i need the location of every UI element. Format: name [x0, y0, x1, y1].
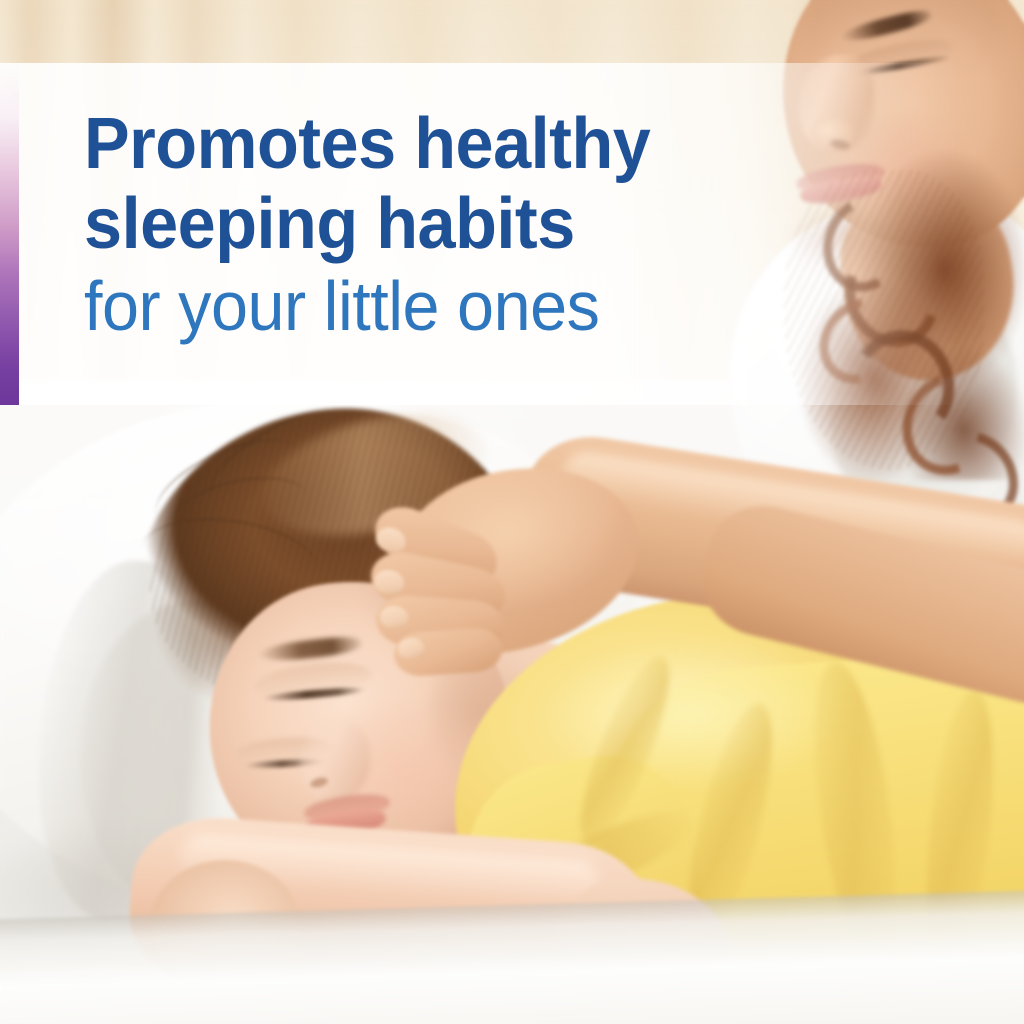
ad-creative: Promotes healthy sleeping habits for you…: [0, 0, 1024, 1024]
headline-line-2: sleeping habits: [84, 184, 730, 264]
headline-line-1: Promotes healthy: [84, 104, 730, 184]
headline-line-3: for your little ones: [84, 264, 730, 348]
headline-block: Promotes healthy sleeping habits for you…: [84, 104, 764, 348]
child-nose: [300, 720, 370, 800]
fingernail: [380, 606, 409, 629]
left-accent-gradient-strip: [0, 63, 19, 405]
